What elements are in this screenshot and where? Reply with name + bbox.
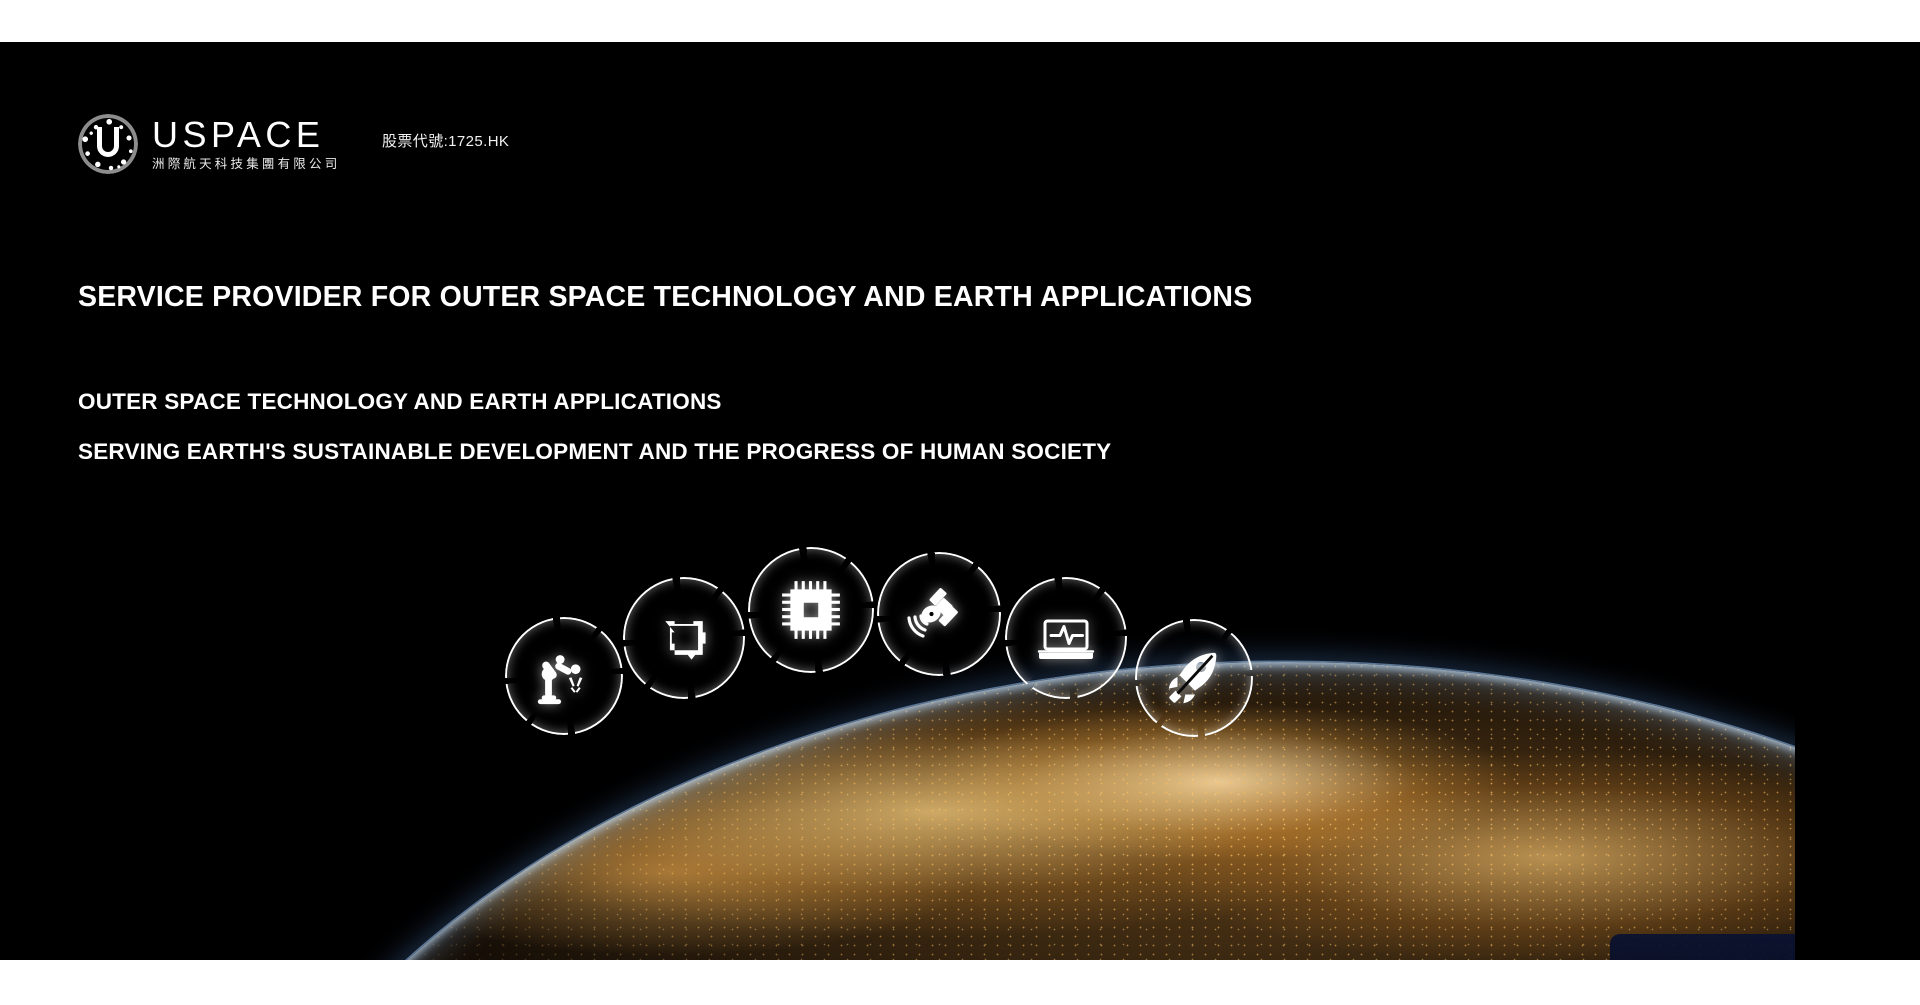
laptop-monitoring-icon xyxy=(1005,577,1127,699)
uspace-orbit-emblem-icon xyxy=(78,114,138,174)
capability-icon-arc xyxy=(505,547,1425,802)
capability-badge-laptop-monitoring[interactable] xyxy=(1005,577,1127,699)
blue-panel-decoration xyxy=(1610,934,1795,960)
brand-logo[interactable]: USPACE 洲際航天科技集團有限公司 xyxy=(78,114,340,174)
capability-badge-satellite-panel[interactable] xyxy=(623,577,745,699)
brand-text: USPACE 洲際航天科技集團有限公司 xyxy=(152,117,340,171)
microchip-icon xyxy=(748,547,874,673)
satellite-signal-icon xyxy=(877,552,1001,676)
hero-subline-1: OUTER SPACE TECHNOLOGY AND EARTH APPLICA… xyxy=(78,389,722,415)
page-root: USPACE 洲際航天科技集團有限公司 股票代號:1725.HK SERVICE… xyxy=(0,0,1920,1005)
satellite-panel-icon xyxy=(623,577,745,699)
hero-right-filler xyxy=(1795,42,1920,960)
brand-chinese-name: 洲際航天科技集團有限公司 xyxy=(152,158,340,171)
earth-background xyxy=(0,42,1795,960)
stock-code-label: 股票代號:1725.HK xyxy=(382,130,509,151)
capability-badge-robotic-arm[interactable] xyxy=(505,617,623,735)
capability-badge-rocket[interactable] xyxy=(1135,619,1253,737)
page-title: SERVICE PROVIDER FOR OUTER SPACE TECHNOL… xyxy=(78,281,1252,314)
capability-badge-microchip[interactable] xyxy=(748,547,874,673)
robotic-arm-icon xyxy=(505,617,623,735)
hero-canvas: USPACE 洲際航天科技集團有限公司 股票代號:1725.HK SERVICE… xyxy=(0,42,1795,960)
hero-subline-2: SERVING EARTH'S SUSTAINABLE DEVELOPMENT … xyxy=(78,439,1111,465)
capability-badge-satellite-signal[interactable] xyxy=(877,552,1001,676)
brand-wordmark: USPACE xyxy=(152,117,340,153)
rocket-icon xyxy=(1135,619,1253,737)
